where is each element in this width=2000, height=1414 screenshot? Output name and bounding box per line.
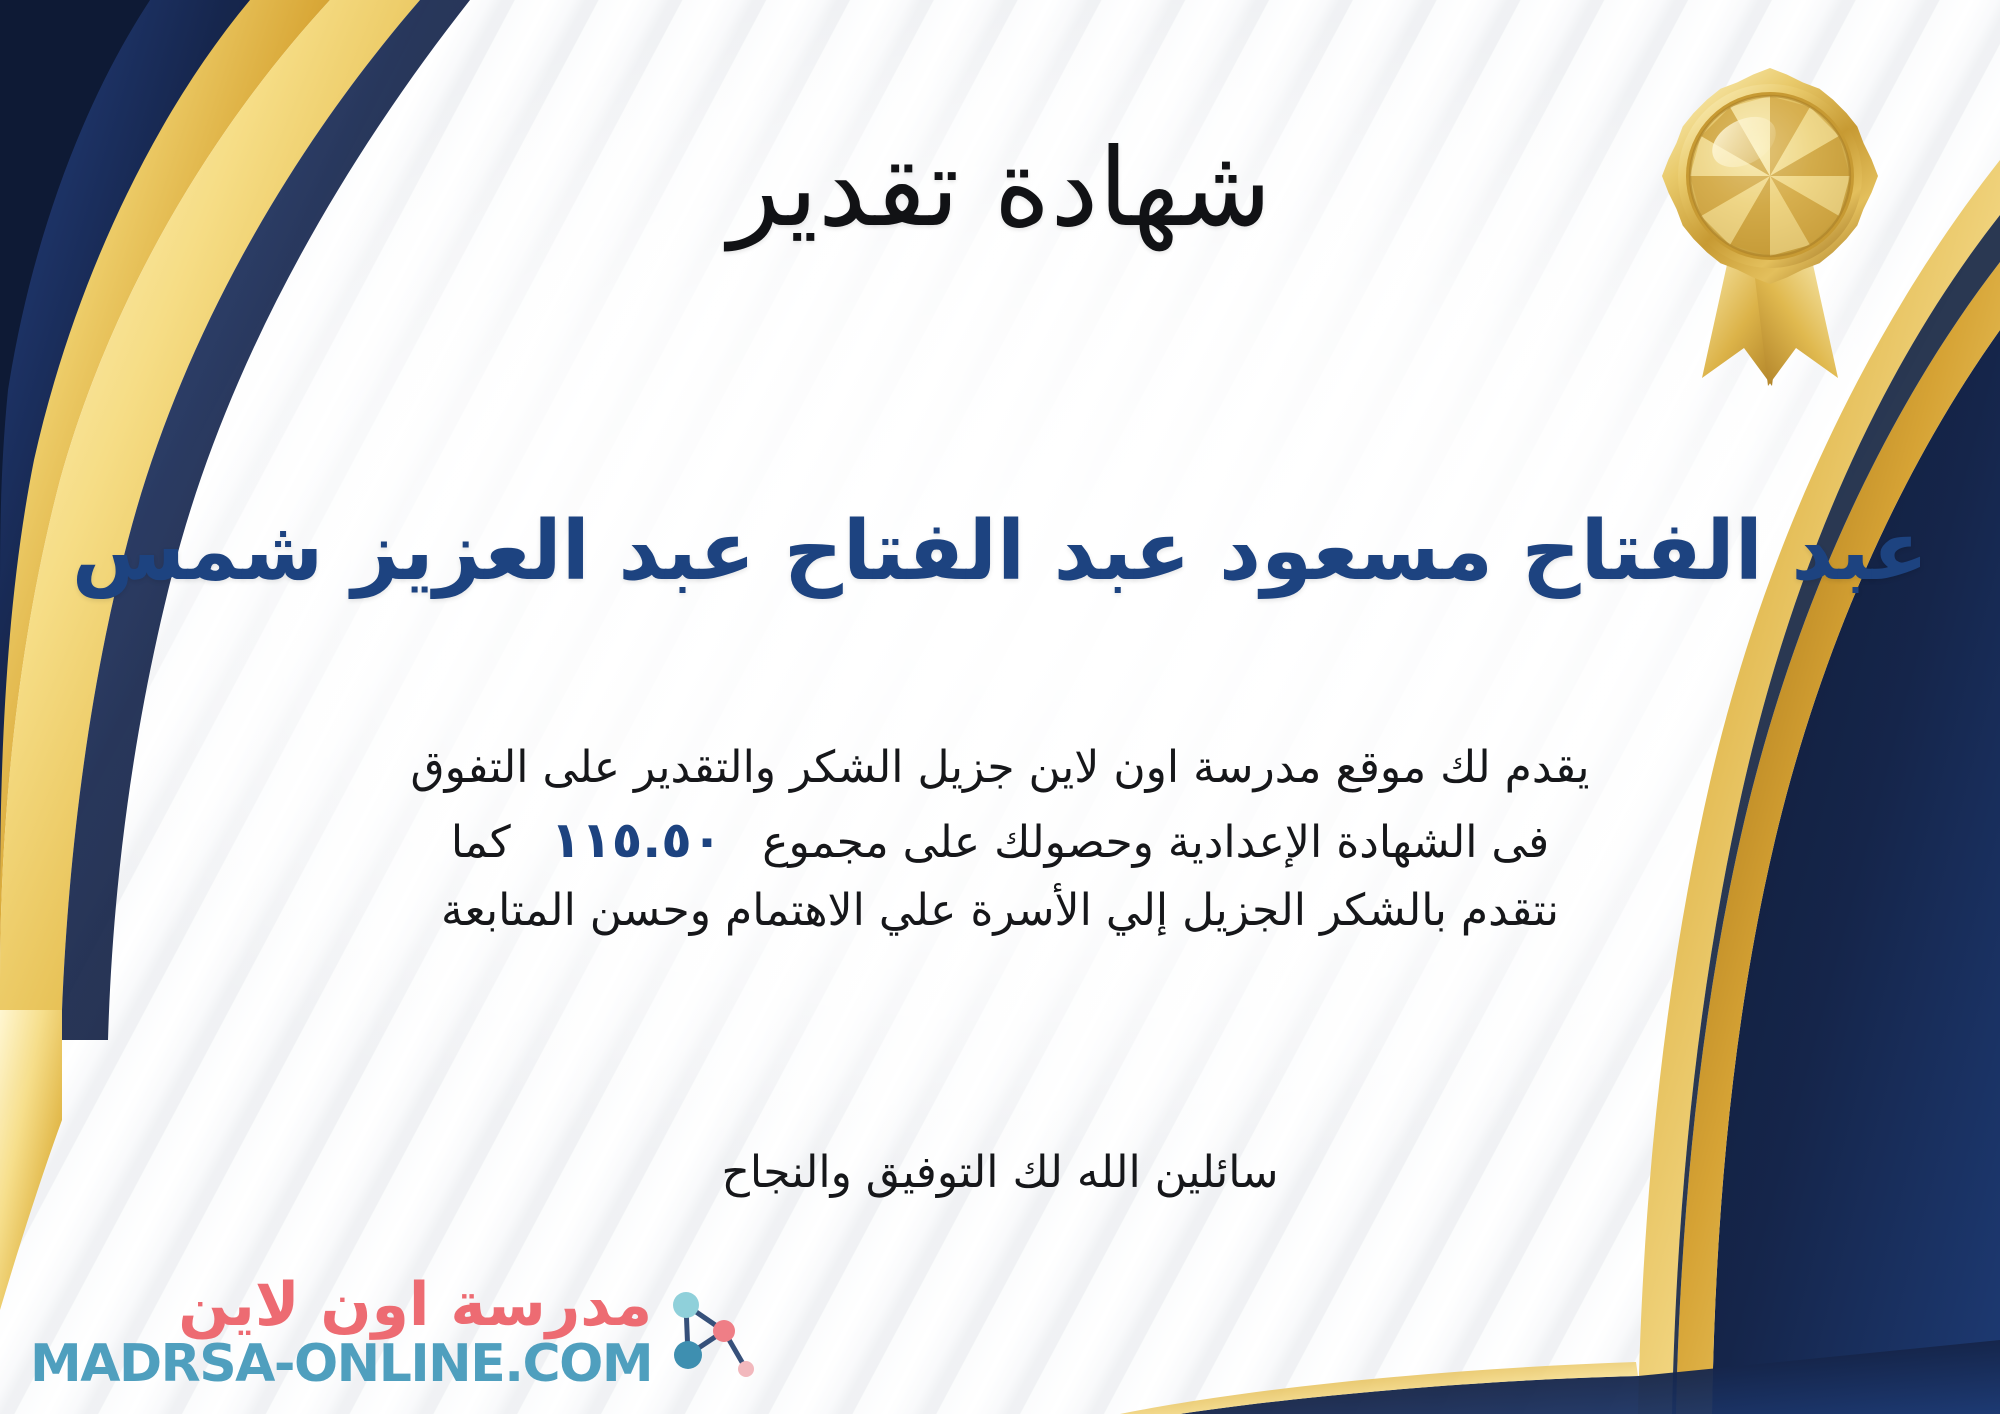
body-line-2-suffix: كما — [451, 817, 511, 868]
brand-arabic-name: مدرسة اون لاين — [178, 1274, 652, 1337]
closing-wish-line: سائلين الله لك التوفيق والنجاح — [150, 1140, 1850, 1206]
body-line-3: نتقدم بالشكر الجزيل إلي الأسرة علي الاهت… — [150, 878, 1850, 945]
brand-text-group: مدرسة اون لاين MADRSA-ONLINE.COM — [30, 1274, 652, 1392]
body-line-2-prefix: فى الشهادة الإعدادية وحصولك على مجموع — [762, 817, 1549, 868]
body-line-2: فى الشهادة الإعدادية وحصولك على مجموع ١١… — [150, 802, 1850, 878]
brand-website: MADRSA-ONLINE.COM — [30, 1337, 652, 1392]
body-line-1: يقدم لك موقع مدرسة اون لاين جزيل الشكر و… — [150, 735, 1850, 802]
certificate-body: يقدم لك موقع مدرسة اون لاين جزيل الشكر و… — [150, 735, 1850, 945]
grade-total-value: ١١٥.٥٠ — [525, 811, 749, 869]
network-nodes-icon — [662, 1283, 754, 1383]
certificate-canvas: شهادة تقدير عبد الفتاح مسعود عبد الفتاح … — [0, 0, 2000, 1414]
gold-medal-ribbon-icon — [1640, 48, 1900, 398]
recipient-name: عبد الفتاح مسعود عبد الفتاح عبد العزيز ش… — [0, 505, 2000, 599]
brand-logo[interactable]: مدرسة اون لاين MADRSA-ONLINE.COM — [30, 1274, 754, 1392]
